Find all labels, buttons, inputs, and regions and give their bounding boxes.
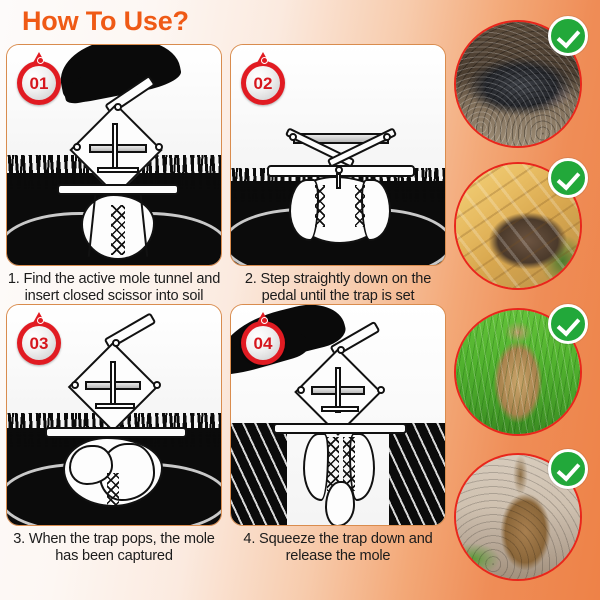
trigger-rod-2	[336, 173, 341, 189]
page-title: How To Use?	[22, 6, 189, 37]
trap-pin-left-2	[289, 133, 297, 141]
check-icon-gopher	[548, 304, 588, 344]
step-badge-2: 02	[241, 53, 287, 105]
trap-lowerbar-4	[321, 406, 359, 412]
step-caption-1: 1. Find the active mole tunnel and inser…	[6, 271, 222, 305]
trap-pin-top-3	[112, 339, 120, 347]
check-icon-hare	[548, 449, 588, 489]
trap-pin-left-4	[297, 386, 305, 394]
jaw-teeth-left-2	[315, 185, 325, 227]
trap-lowerbar-3	[95, 403, 135, 409]
step-card-1: 01 1. Find the active mole tunnel and in…	[6, 44, 222, 286]
step-illustration-1: 01	[6, 44, 222, 266]
target-animals-column	[446, 10, 596, 595]
animal-photo-mole	[454, 20, 582, 148]
badge-disc-4: 04	[246, 326, 280, 360]
badge-disc-1: 01	[22, 66, 56, 100]
trap-pin-left-1	[73, 143, 81, 151]
trap-pin-top-4	[337, 346, 345, 354]
step-card-2: 02 2. Step straightly down on the pedal …	[230, 44, 446, 286]
trap-centerpost-1	[112, 123, 118, 173]
badge-number-3: 03	[30, 335, 49, 352]
step-illustration-4: 04	[230, 304, 446, 526]
step-caption-4: 4. Squeeze the trap down and release the…	[230, 531, 446, 565]
badge-disc-2: 02	[246, 66, 280, 100]
step-illustration-3: 03	[6, 304, 222, 526]
how-to-use-infographic: How To Use?	[0, 0, 600, 600]
steps-grid: 01 1. Find the active mole tunnel and in…	[6, 44, 446, 594]
step-caption-3: 3. When the trap pops, the mole has been…	[6, 531, 222, 565]
trap-lowerbar-1	[97, 167, 139, 173]
step-card-4: 04 4. Squeeze the trap down and release …	[230, 304, 446, 546]
badge-number-1: 01	[30, 75, 49, 92]
trap-pin-right-1	[155, 143, 163, 151]
badge-number-2: 02	[254, 75, 273, 92]
soil-wall-left-4	[231, 423, 287, 525]
trap-foot-plate-3	[45, 427, 187, 438]
closed-scissor-jaws-1	[111, 205, 125, 255]
step-card-3: 03 3. When the trap pops, the mole has b…	[6, 304, 222, 546]
step-illustration-2: 02	[230, 44, 446, 266]
animal-photo-vole	[454, 162, 582, 290]
mole-claws-3	[107, 473, 119, 507]
trap-centerpost-3	[110, 361, 116, 409]
trap-pin-right-3	[153, 381, 161, 389]
trap-pin-right-2	[383, 133, 391, 141]
step-caption-2: 2. Step straightly down on the pedal unt…	[230, 271, 446, 305]
trap-foot-plate-4	[273, 423, 407, 434]
badge-number-4: 04	[254, 335, 273, 352]
jaw-teeth-right-2	[355, 185, 365, 227]
animal-photo-gopher	[454, 308, 582, 436]
badge-disc-3: 03	[22, 326, 56, 360]
trap-pin-top-1	[114, 103, 122, 111]
step-badge-4: 04	[241, 313, 287, 365]
check-icon-mole	[548, 16, 588, 56]
trap-pin-right-4	[377, 386, 385, 394]
animal-photo-hare	[454, 453, 582, 581]
trap-pin-left-3	[71, 381, 79, 389]
released-mole-4	[325, 481, 355, 526]
step-badge-1: 01	[17, 53, 63, 105]
step-badge-3: 03	[17, 313, 63, 365]
trap-crossbar-1	[89, 144, 147, 153]
soil-wall-right-4	[389, 423, 445, 525]
check-icon-vole	[548, 158, 588, 198]
